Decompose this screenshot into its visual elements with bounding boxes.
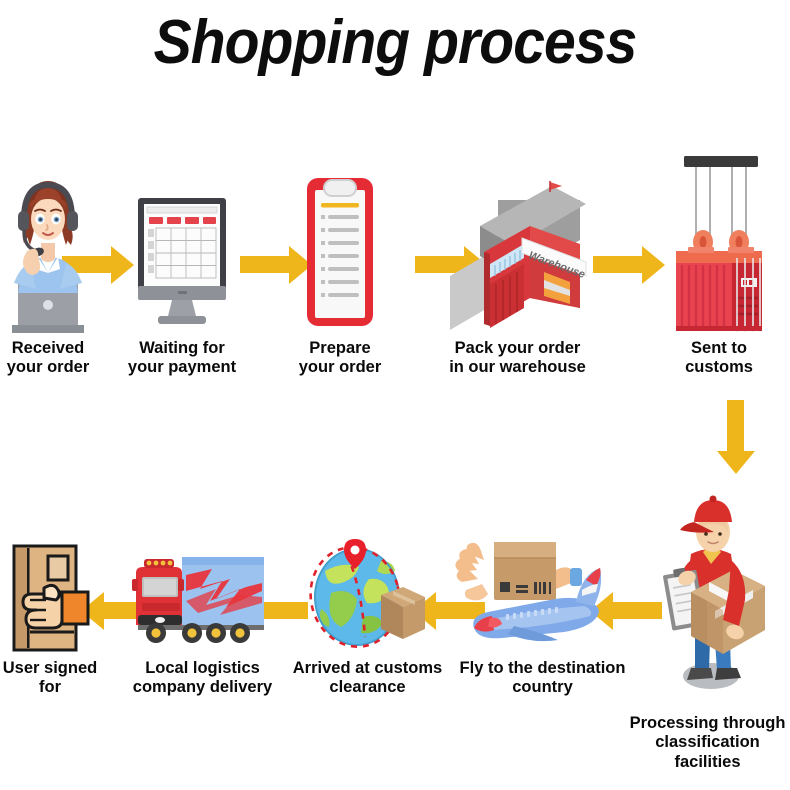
hand-knocking-door-icon <box>0 540 100 655</box>
step-2-waiting-for-your-payment: Waiting for your payment <box>124 190 240 378</box>
step-9-label: Local logistics company delivery <box>120 659 285 698</box>
step-4-pack-your-order: Warehouse Pack your order in our warehou… <box>440 180 595 378</box>
step-10-label: User signed for <box>0 659 100 698</box>
step-6-label: Processing through classification facili… <box>625 714 790 772</box>
arrow-step2-to-step3 <box>240 256 290 273</box>
step-7-fly-to-destination: Fly to the destination country <box>450 530 635 698</box>
delivery-truck-icon <box>120 545 285 655</box>
step-8-arrived-at-customs-clearance: Arrived at customs clearance <box>285 535 450 698</box>
step-1-label: Received your order <box>0 339 96 378</box>
page-title: Shopping process <box>32 12 759 74</box>
shipping-container-crane-icon <box>648 150 790 335</box>
arrow-step4-to-step5 <box>593 256 643 273</box>
step-1-received-your-order: Received your order <box>0 175 96 378</box>
step-5-sent-to-customs: Sent to customs <box>648 150 790 378</box>
step-9-local-logistics-delivery: Local logistics company delivery <box>120 545 285 698</box>
worker-with-parcels-icon <box>625 480 790 710</box>
step-10-user-signed-for: User signed for <box>0 540 100 698</box>
call-center-agent-icon <box>0 175 96 335</box>
step-7-label: Fly to the destination country <box>450 659 635 698</box>
warehouse-building-icon: Warehouse <box>440 180 595 335</box>
airplane-parcel-icon <box>450 530 635 655</box>
step-5-label: Sent to customs <box>648 339 790 378</box>
step-3-label: Prepare your order <box>288 339 392 378</box>
step-6-processing-through-classification: Processing through classification facili… <box>625 480 790 772</box>
arrow-step5-to-step6 <box>727 400 744 452</box>
step-2-label: Waiting for your payment <box>124 339 240 378</box>
clipboard-checklist-icon <box>288 170 392 335</box>
globe-route-parcel-icon <box>285 535 450 655</box>
monitor-spreadsheet-icon <box>124 190 240 335</box>
step-3-prepare-your-order: Prepare your order <box>288 170 392 378</box>
step-8-label: Arrived at customs clearance <box>285 659 450 698</box>
step-4-label: Pack your order in our warehouse <box>440 339 595 378</box>
